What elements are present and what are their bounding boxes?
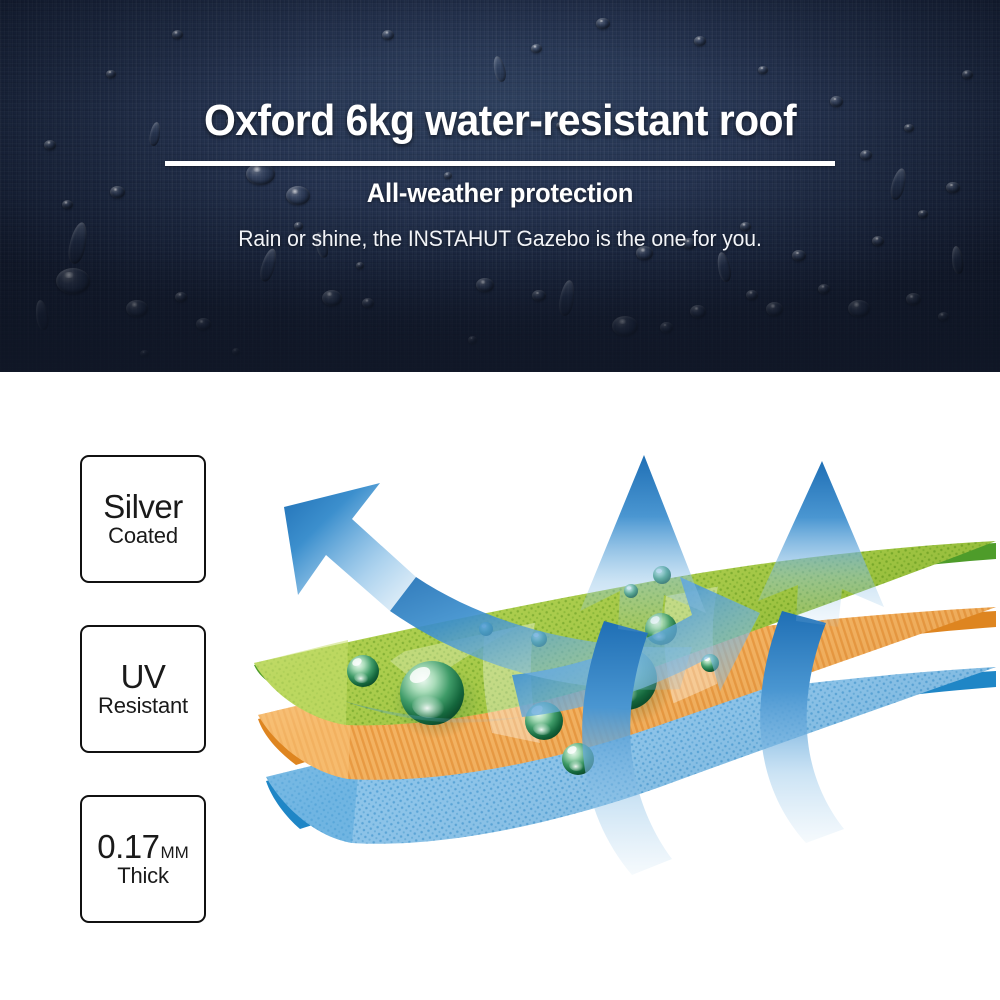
feature-badge-thickness: 0.17MM Thick	[80, 795, 206, 923]
feature-badge-subtitle: Coated	[108, 524, 178, 548]
feature-badge-subtitle: Resistant	[98, 694, 188, 718]
banner-subtitle: All-weather protection	[25, 179, 975, 209]
feature-badge-unit: MM	[160, 844, 188, 861]
feature-badge-uv-resistant: UV Resistant	[80, 625, 206, 753]
feature-badge-title: Silver	[103, 490, 183, 524]
feature-badge-silver-coated: Silver Coated	[80, 455, 206, 583]
banner-divider	[165, 161, 835, 166]
banner-title: Oxford 6kg water-resistant roof	[35, 99, 965, 143]
fabric-layers-illustration	[240, 425, 1000, 965]
feature-badge-value: 0.17	[97, 830, 159, 864]
product-feature-image: Oxford 6kg water-resistant roof All-weat…	[0, 0, 1000, 1000]
feature-badge-value: Silver	[103, 490, 183, 524]
hero-banner: Oxford 6kg water-resistant roof All-weat…	[0, 0, 1000, 372]
banner-tagline: Rain or shine, the INSTAHUT Gazebo is th…	[20, 226, 980, 252]
feature-badge-value: UV	[121, 660, 166, 694]
banner-bottom-fade	[0, 252, 1000, 372]
feature-badge-title: UV	[121, 660, 166, 694]
feature-badge-title: 0.17MM	[97, 830, 189, 864]
feature-badge-subtitle: Thick	[117, 864, 169, 888]
